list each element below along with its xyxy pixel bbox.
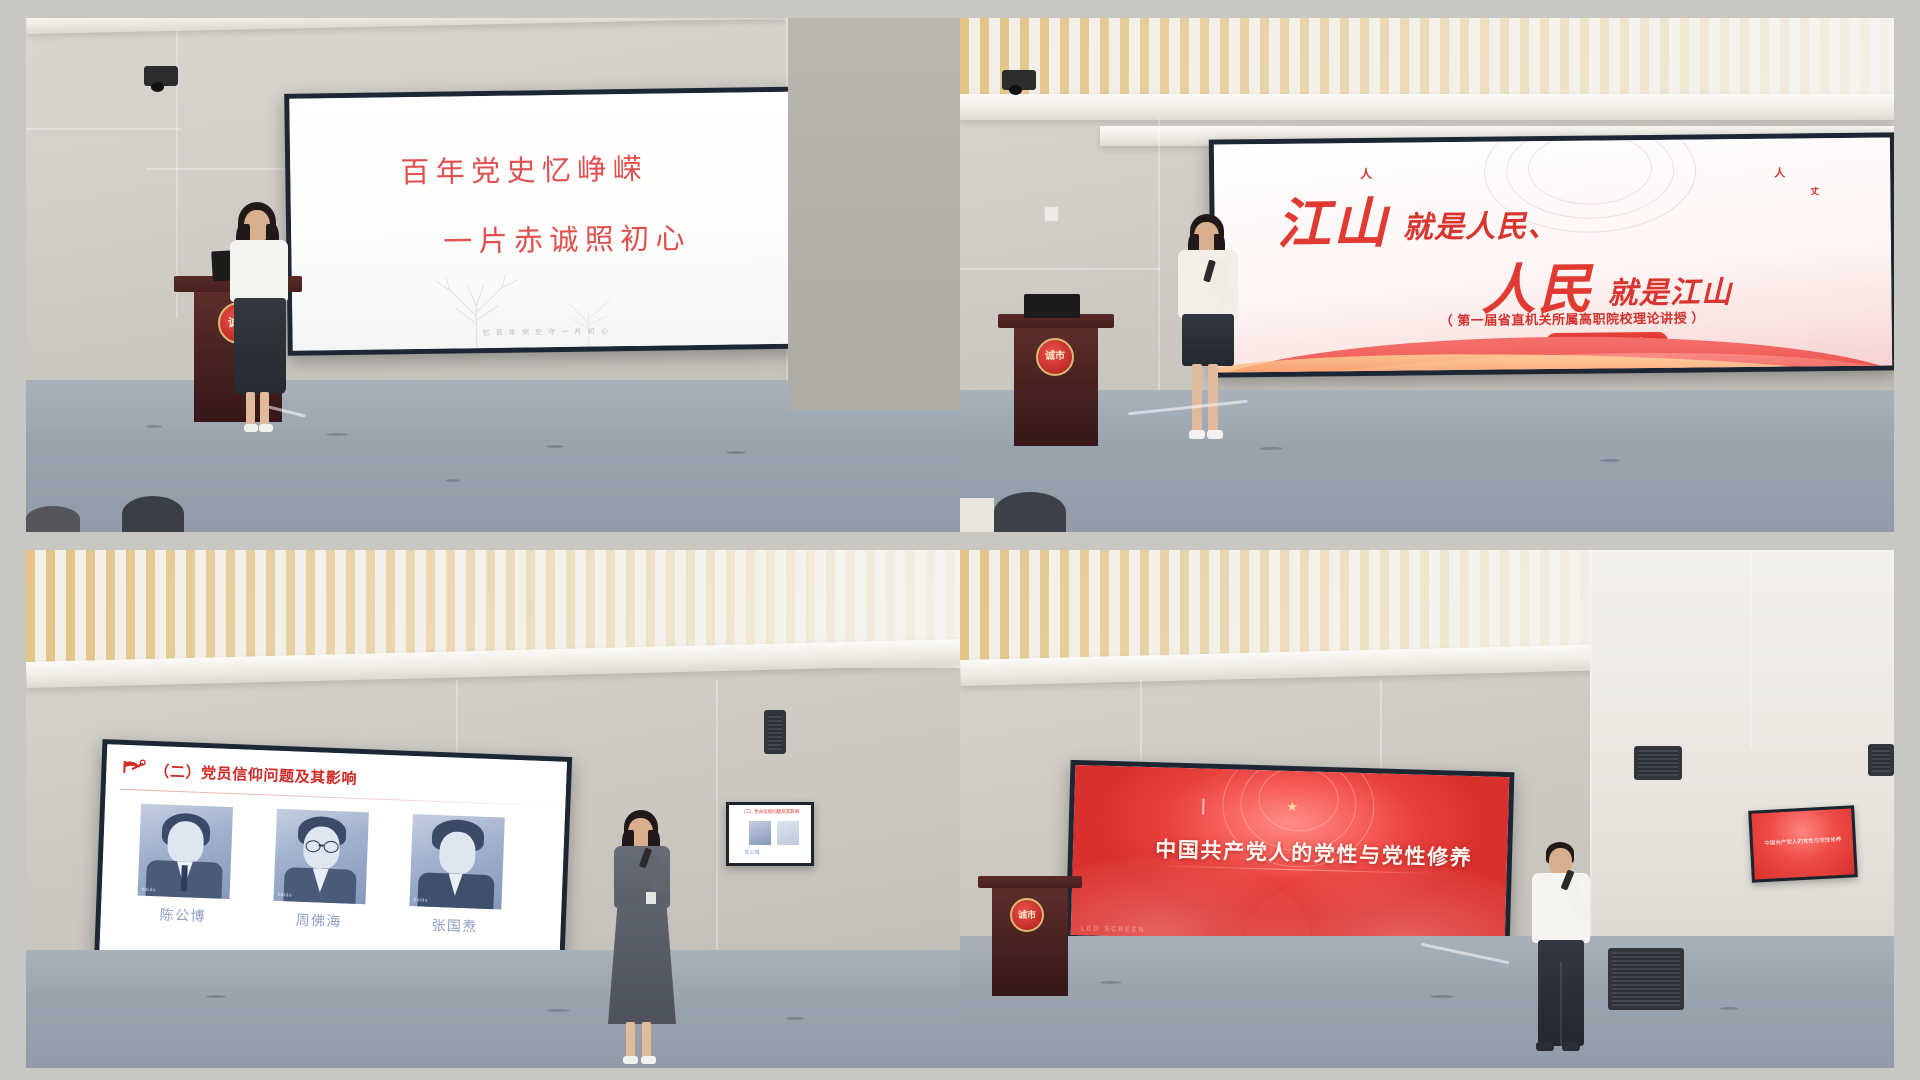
- collage-panel-top-left: 百年党史忆峥嵘 一片赤诚照初心 忆 百 年 党 史 守 一 片 初 心 诚市: [0, 0, 960, 540]
- speaker-skirt: [608, 904, 676, 1024]
- portrait-name: 陈公博: [136, 904, 229, 928]
- projection-screen: 百年党史忆峥嵘 一片赤诚照初心 忆 百 年 党 史 守 一 片 初 心: [284, 86, 834, 356]
- speaker-person: [602, 810, 692, 1068]
- party-emblem-icon: [120, 757, 147, 780]
- led-video-wall: ★ 中国共产党人的党性与党性修养 LED SCREEN: [1066, 760, 1515, 952]
- podium-emblem: 诚市: [1010, 898, 1044, 932]
- podium-emblem: 诚市: [1036, 338, 1074, 376]
- slide-line-2: 一片赤诚照初心: [443, 215, 691, 260]
- photo-watermark: baidu: [413, 897, 427, 904]
- photo-bottom-left: （二）党员信仰问题及其影响 baidu 陈公博: [26, 550, 960, 1068]
- photo-watermark: baidu: [142, 887, 156, 894]
- title-divider: [120, 789, 558, 807]
- aux-monitor: （二）党员信仰问题及其影响 陈公博: [726, 802, 814, 866]
- slide-portraits: （二）党员信仰问题及其影响 baidu 陈公博: [99, 744, 567, 979]
- slide-small-1: 就是人民、: [1402, 201, 1558, 247]
- audience-object: [960, 498, 994, 532]
- led-screen: 人 人 丈 江山 就是人民、 人民 就是江山 （ 第一届省直机关所属高职院校理论…: [1209, 132, 1894, 377]
- podium: 诚市: [998, 314, 1114, 446]
- audience-head: [994, 492, 1066, 532]
- audience-head: [122, 496, 184, 532]
- tree-illustration-secondary: [530, 272, 651, 350]
- speaker-person: [1166, 214, 1258, 454]
- photo-bottom-right: ★ 中国共产党人的党性与党性修养 LED SCREEN 中国共产党人的党性与党性…: [960, 550, 1894, 1068]
- collage-panel-top-right: 人 人 丈 江山 就是人民、 人民 就是江山 （ 第一届省直机关所属高职院校理论…: [960, 0, 1920, 540]
- floor: [26, 950, 960, 1068]
- wall-speaker: [1868, 744, 1894, 776]
- aux-monitor-title: （二）党员信仰问题及其影响: [729, 809, 811, 815]
- slide-subtitle: （ 第一届省直机关所属高职院校理论讲授 ）: [1440, 307, 1705, 329]
- bird-icon: 人: [1774, 165, 1785, 181]
- projector: [1002, 70, 1036, 90]
- slide-footer: 忆 百 年 党 史 守 一 片 初 心: [482, 326, 610, 338]
- slide-jiangshan: 人 人 丈 江山 就是人民、 人民 就是江山 （ 第一届省直机关所属高职院校理论…: [1214, 137, 1892, 372]
- portrait-name: 张国焘: [408, 914, 501, 938]
- wall-speaker: [764, 710, 786, 754]
- projection-screen: （二）党员信仰问题及其影响 baidu 陈公博: [94, 739, 572, 985]
- photo-collage: 百年党史忆峥嵘 一片赤诚照初心 忆 百 年 党 史 守 一 片 初 心 诚市: [0, 0, 1920, 1080]
- slide-calligraphy: 百年党史忆峥嵘 一片赤诚照初心 忆 百 年 党 史 守 一 片 初 心: [289, 91, 828, 350]
- lanyard-badge: [646, 892, 656, 905]
- portrait-photo: baidu: [273, 809, 368, 904]
- floor: [960, 936, 1894, 1068]
- aux-monitor-photo: [749, 821, 771, 845]
- aux-monitor-caption: 陈公博: [729, 849, 811, 856]
- star-icon: ★: [1286, 799, 1298, 815]
- speaker-torso: [230, 240, 288, 302]
- speaker-person: [222, 202, 302, 438]
- projector: [144, 66, 178, 86]
- photo-watermark: baidu: [278, 892, 292, 899]
- floor-speaker: [1608, 948, 1684, 1010]
- slide-line-1: 百年党史忆峥嵘: [400, 146, 648, 191]
- slide-title: （二）党员信仰问题及其影响: [154, 760, 357, 789]
- slide-small-2: 就是江山: [1607, 267, 1732, 312]
- light-switch[interactable]: [1044, 206, 1059, 222]
- photo-top-left: 百年党史忆峥嵘 一片赤诚照初心 忆 百 年 党 史 守 一 片 初 心 诚市: [26, 18, 960, 532]
- aux-monitor-photo: [777, 821, 799, 845]
- collage-panel-bottom-right: ★ 中国共产党人的党性与党性修养 LED SCREEN 中国共产党人的党性与党性…: [960, 540, 1920, 1080]
- aux-monitor: 中国共产党人的党性与党性修养: [1748, 805, 1858, 882]
- speaker-person: [1520, 842, 1608, 1068]
- portrait-photo: baidu: [409, 814, 504, 909]
- wall-speaker: [1634, 746, 1682, 780]
- slide-red-led: ★ 中国共产党人的党性与党性修养 LED SCREEN: [1071, 765, 1510, 947]
- podium-laptop: [1024, 294, 1080, 318]
- collage-panel-bottom-left: （二）党员信仰问题及其影响 baidu 陈公博: [0, 540, 960, 1080]
- portrait-photo: baidu: [138, 804, 233, 899]
- speaker-skirt: [1182, 314, 1234, 366]
- audience-head: [26, 506, 80, 532]
- portrait-name: 周佛海: [272, 909, 365, 933]
- speaker-skirt: [234, 298, 286, 394]
- wood-slat-ceiling: [960, 18, 1894, 102]
- slide-big-1: 江山: [1276, 179, 1389, 259]
- podium: 诚市: [978, 876, 1082, 996]
- ceiling-soffit: [960, 94, 1894, 120]
- bird-icon: 丈: [1810, 184, 1819, 197]
- photo-top-right: 人 人 丈 江山 就是人民、 人民 就是江山 （ 第一届省直机关所属高职院校理论…: [960, 18, 1894, 532]
